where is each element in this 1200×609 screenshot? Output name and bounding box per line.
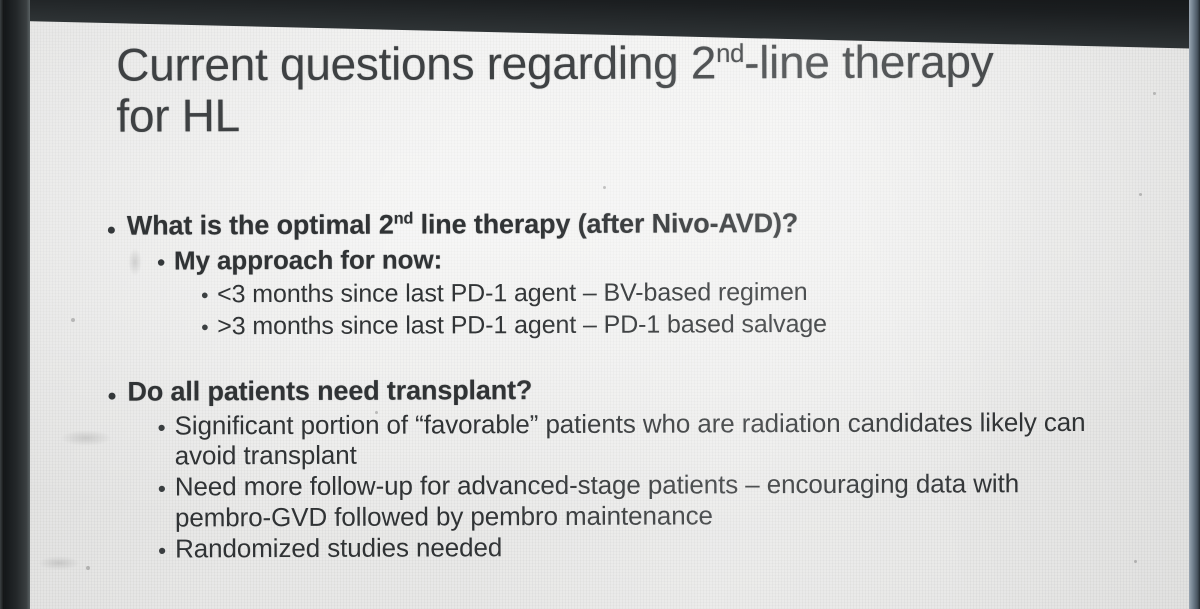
screen-bezel-right: [1189, 0, 1200, 609]
slide-title-superscript: nd: [716, 40, 744, 68]
bullet-text: My approach for now:: [174, 241, 1117, 277]
bullet-item-level1: • Do all patients need transplant?: [107, 372, 1117, 409]
bullet-marker-icon: •: [201, 279, 217, 306]
bullet-item-level2: • Randomized studies needed: [108, 530, 1118, 564]
screen-bezel-left-edge: [0, 0, 4, 609]
bullet-text: Need more follow-up for advanced-stage p…: [175, 468, 1118, 532]
bullet-item-level2: • My approach for now:: [107, 241, 1117, 277]
bullet-text: <3 months since last PD-1 agent – BV-bas…: [217, 276, 1117, 311]
slide-content: Current questions regarding 2nd-line the…: [28, 2, 1192, 609]
bullet-item-level3: • >3 months since last PD-1 agent – PD-1…: [107, 308, 1117, 343]
bullet-text: Significant portion of “favorable” patie…: [175, 407, 1118, 471]
bullet-text: Randomized studies needed: [175, 530, 1118, 564]
slide-photograph: Current questions regarding 2nd-line the…: [0, 0, 1200, 609]
bullet-text-pre: What is the optimal 2: [127, 210, 394, 241]
bullet-item-level1: • What is the optimal 2nd line therapy (…: [107, 206, 1117, 243]
slide-body: • What is the optimal 2nd line therapy (…: [107, 206, 1118, 565]
bullet-marker-icon: •: [107, 210, 127, 243]
slide-title-line2: for HL: [116, 89, 240, 141]
bullet-item-level3: • <3 months since last PD-1 agent – BV-b…: [107, 276, 1117, 311]
screen-bezel-left: [0, 0, 30, 609]
ordinal-superscript: nd: [394, 210, 414, 228]
bullet-marker-icon: •: [158, 533, 175, 562]
slide-title: Current questions regarding 2nd-line the…: [116, 36, 1091, 141]
bullet-group-transplant-necessity: • Do all patients need transplant? • Sig…: [107, 372, 1118, 564]
bullet-marker-icon: •: [158, 411, 175, 440]
bullet-item-level2: • Significant portion of “favorable” pat…: [108, 407, 1118, 471]
slide-title-pre: Current questions regarding 2: [116, 36, 716, 90]
bullet-text: Do all patients need transplant?: [127, 372, 1117, 409]
bullet-marker-icon: •: [201, 311, 217, 338]
bullet-item-level2: • Need more follow-up for advanced-stage…: [108, 468, 1118, 532]
bullet-marker-icon: •: [107, 375, 127, 408]
slide-title-post: -line therapy: [744, 35, 993, 88]
bullet-marker-icon: •: [157, 245, 174, 276]
bullet-text: What is the optimal 2nd line therapy (af…: [127, 206, 1117, 243]
bullet-group-optimal-second-line-therapy: • What is the optimal 2nd line therapy (…: [107, 206, 1118, 344]
bullet-text-post: line therapy (after Nivo-AVD)?: [413, 208, 798, 239]
bullet-text: >3 months since last PD-1 agent – PD-1 b…: [217, 308, 1117, 343]
bullet-marker-icon: •: [158, 472, 175, 501]
